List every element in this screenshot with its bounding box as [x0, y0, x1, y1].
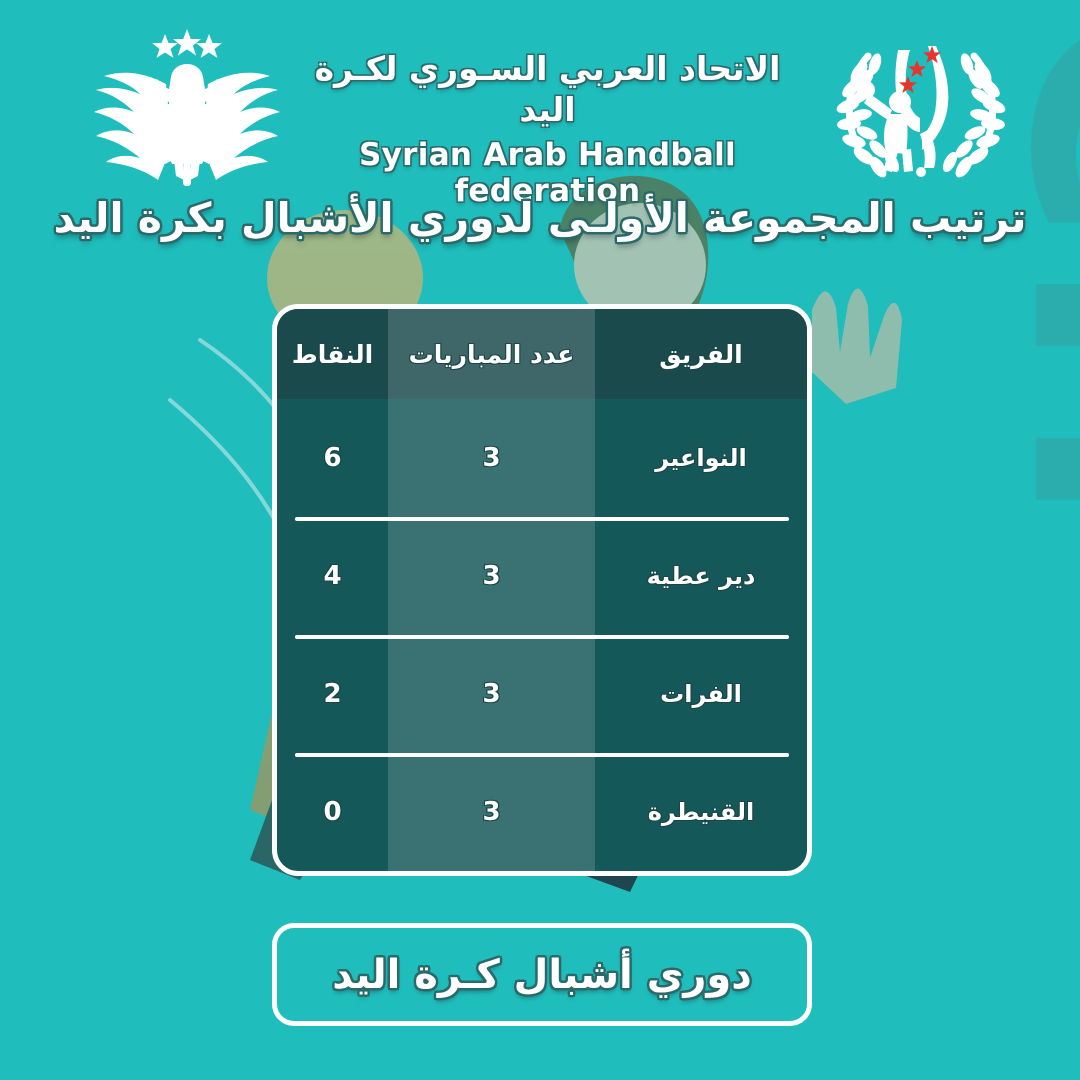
- table-body: 6 3 النواعير 4 3 دير عطية 2 3 الفرات 0 3…: [277, 399, 807, 871]
- laurel-wreath-handball-player-emblem-icon: [828, 22, 1014, 187]
- cell-points: 6: [277, 399, 388, 517]
- cell-team: القنيطرة: [595, 753, 807, 871]
- column-header-team: الفريق: [595, 309, 807, 399]
- cell-points: 0: [277, 753, 388, 871]
- cell-matches: 3: [388, 517, 595, 635]
- eagle-emblem-icon: [92, 26, 282, 186]
- column-header-points: النقاط: [277, 309, 388, 399]
- federation-name-arabic: الاتحاد العربي السـوري لكـرة اليد: [285, 48, 810, 131]
- table-row[interactable]: 2 3 الفرات: [277, 635, 807, 753]
- cell-matches: 3: [388, 399, 595, 517]
- page-title: ترتيب المجموعة الأولـى لدوري الأشبال بكر…: [0, 194, 1080, 242]
- cell-team: الفرات: [595, 635, 807, 753]
- column-header-matches: عدد المباريات: [388, 309, 595, 399]
- table-row[interactable]: 0 3 القنيطرة: [277, 753, 807, 871]
- federation-name-block: الاتحاد العربي السـوري لكـرة اليد Syrian…: [285, 48, 810, 209]
- standings-table: النقاط عدد المباريات الفريق 6 3 النواعير…: [272, 304, 812, 876]
- cell-matches: 3: [388, 635, 595, 753]
- cell-points: 4: [277, 517, 388, 635]
- table-row[interactable]: 4 3 دير عطية: [277, 517, 807, 635]
- league-name-label: دوري أشبال كـرة اليد: [332, 952, 752, 998]
- table-header-row: النقاط عدد المباريات الفريق: [277, 309, 807, 399]
- cell-matches: 3: [388, 753, 595, 871]
- league-name-banner: دوري أشبال كـرة اليد: [272, 923, 812, 1026]
- table-row[interactable]: 6 3 النواعير: [277, 399, 807, 517]
- page-header: الاتحاد العربي السـوري لكـرة اليد Syrian…: [0, 0, 1080, 185]
- cell-points: 2: [277, 635, 388, 753]
- cell-team: دير عطية: [595, 517, 807, 635]
- cell-team: النواعير: [595, 399, 807, 517]
